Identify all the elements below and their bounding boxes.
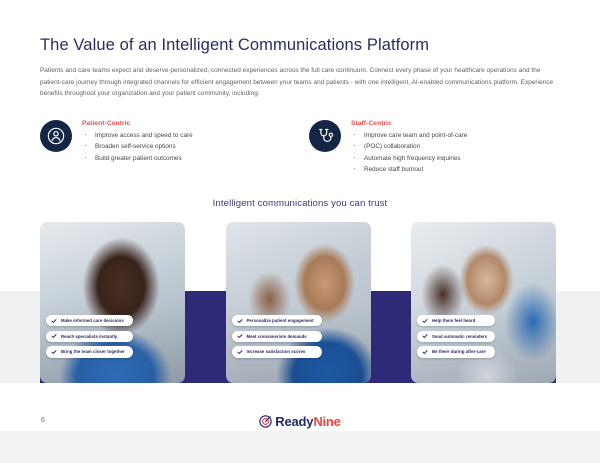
benefit-item: Automate high frequency inquiries <box>351 153 467 164</box>
pill-label: Bring the team closer together <box>61 349 125 354</box>
benefit-heading: Staff-Centric <box>351 120 467 127</box>
check-icon <box>51 318 57 324</box>
check-icon <box>237 333 243 339</box>
check-icon <box>237 349 243 355</box>
benefit-pill: Personalize patient engagement <box>232 315 322 326</box>
pill-label: Help them feel heard <box>432 318 475 323</box>
benefit-pill: Reach specialists instantly <box>46 331 133 342</box>
pill-label: Send automatic reminders <box>432 334 487 339</box>
stethoscope-icon <box>309 120 341 152</box>
check-icon <box>51 333 57 339</box>
pill-stack: Help them feel heard Send automatic remi… <box>417 315 495 358</box>
showcase-cards: Make informed care decisions Reach speci… <box>40 222 556 383</box>
benefit-pill: Bring the team closer together <box>46 346 133 357</box>
page-title: The Value of an Intelligent Communicatio… <box>40 36 429 55</box>
call-center-agent-with-headset-photo <box>226 222 371 383</box>
slide-page: The Value of an Intelligent Communicatio… <box>0 0 600 463</box>
check-icon <box>422 333 428 339</box>
check-icon <box>51 349 57 355</box>
benefit-item: Improve access and speed to care <box>82 130 193 141</box>
care-team-at-workstation-photo <box>411 222 556 383</box>
benefit-heading: Patient-Centric <box>82 120 193 127</box>
logo-primary: Ready <box>275 414 313 429</box>
benefit-item: Reduce staff burnout <box>351 164 467 175</box>
showcase-card: Help them feel heard Send automatic remi… <box>411 222 556 383</box>
benefit-list: Improve care team and point-of-care (POC… <box>351 130 467 175</box>
benefit-pill: Send automatic reminders <box>417 331 495 342</box>
showcase-card: Personalize patient engagement Meet cons… <box>226 222 371 383</box>
benefit-body: Patient-Centric Improve access and speed… <box>82 119 193 175</box>
benefit-item: (POC) collaboration <box>351 141 467 152</box>
benefit-item: Build greater patient outcomes <box>82 153 193 164</box>
benefit-pill: Make informed care decisions <box>46 315 133 326</box>
background-bottom-strip <box>0 431 600 463</box>
benefit-pill: Meet consumerism demands <box>232 331 322 342</box>
pill-label: Personalize patient engagement <box>247 318 314 323</box>
benefit-pill: Increase satisfaction scores <box>232 346 322 357</box>
logo-wordmark: ReadyNine <box>275 414 340 429</box>
pill-stack: Make informed care decisions Reach speci… <box>46 315 133 358</box>
target-circle-icon <box>259 415 272 428</box>
benefit-column-staff-centric: Staff-Centric Improve care team and poin… <box>309 119 556 175</box>
benefit-body: Staff-Centric Improve care team and poin… <box>351 119 467 175</box>
check-icon <box>422 318 428 324</box>
pill-label: Meet consumerism demands <box>247 334 307 339</box>
benefit-column-patient-centric: Patient-Centric Improve access and speed… <box>40 119 287 175</box>
pill-stack: Personalize patient engagement Meet cons… <box>232 315 322 358</box>
pill-label: Reach specialists instantly <box>61 334 117 339</box>
nurse-with-tablet-photo <box>40 222 185 383</box>
pill-label: Be there during after-care <box>432 349 486 354</box>
benefit-item: Improve care team and point-of-care <box>351 130 467 141</box>
benefit-pill: Help them feel heard <box>417 315 495 326</box>
check-icon <box>237 318 243 324</box>
intro-paragraph: Patients and care teams expect and deser… <box>40 65 556 100</box>
logo-secondary: Nine <box>313 414 340 429</box>
showcase-card: Make informed care decisions Reach speci… <box>40 222 185 383</box>
pill-label: Make informed care decisions <box>61 318 124 323</box>
pill-label: Increase satisfaction scores <box>247 349 306 354</box>
benefits-row: Patient-Centric Improve access and speed… <box>40 119 556 175</box>
benefit-list: Improve access and speed to care Broaden… <box>82 130 193 164</box>
person-in-circle-icon <box>40 120 72 152</box>
benefit-pill: Be there during after-care <box>417 346 495 357</box>
section-subheading: Intelligent communications you can trust <box>0 198 600 209</box>
readynine-logo: ReadyNine <box>0 414 600 429</box>
benefit-item: Broaden self-service options <box>82 141 193 152</box>
check-icon <box>422 349 428 355</box>
